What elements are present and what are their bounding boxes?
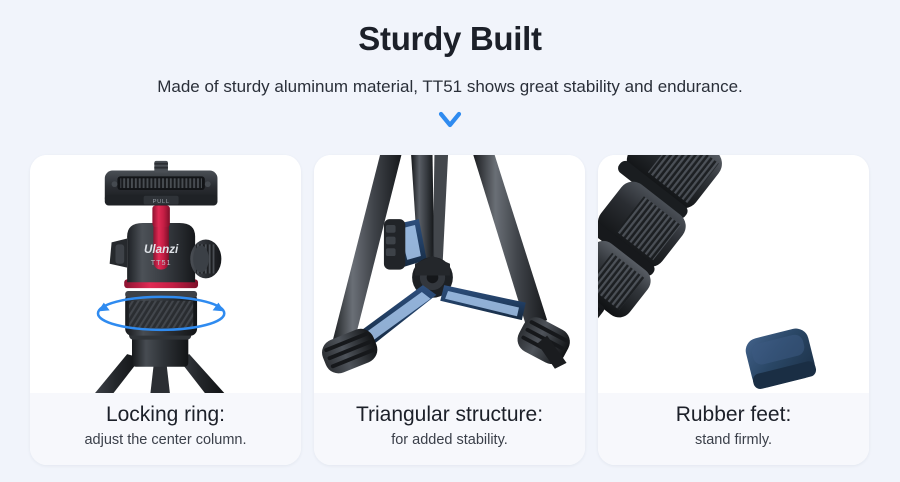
caption-subtitle: for added stability. bbox=[320, 430, 579, 451]
feature-card-locking-ring[interactable]: Ulanzi TT51 PULL bbox=[30, 155, 301, 465]
caption-title: Triangular structure: bbox=[320, 401, 579, 428]
card-caption: Triangular structure: for added stabilit… bbox=[314, 393, 585, 465]
tripod-triangular-brace-image bbox=[314, 155, 585, 393]
page-subtitle: Made of sturdy aluminum material, TT51 s… bbox=[0, 60, 900, 98]
card-caption: Rubber feet: stand firmly. bbox=[598, 393, 869, 465]
plate-pull-label: PULL bbox=[153, 199, 170, 205]
tripod-rubber-foot-image bbox=[598, 155, 869, 393]
brand-text: Ulanzi bbox=[144, 243, 179, 256]
caption-title: Locking ring: bbox=[36, 401, 295, 428]
caption-subtitle: adjust the center column. bbox=[36, 430, 295, 451]
caption-subtitle: stand firmly. bbox=[604, 430, 863, 451]
chevron-down-icon[interactable] bbox=[0, 105, 900, 135]
tripod-ball-head-image: Ulanzi TT51 PULL bbox=[30, 155, 301, 393]
feature-card-triangular-structure[interactable]: Triangular structure: for added stabilit… bbox=[314, 155, 585, 465]
page-title: Sturdy Built bbox=[0, 18, 900, 60]
card-caption: Locking ring: adjust the center column. bbox=[30, 393, 301, 465]
product-feature-page: { "header": { "title": "Sturdy Built", "… bbox=[0, 0, 900, 482]
page-header: Sturdy Built Made of sturdy aluminum mat… bbox=[0, 0, 900, 135]
caption-title: Rubber feet: bbox=[604, 401, 863, 428]
feature-card-row: Ulanzi TT51 PULL bbox=[30, 155, 870, 465]
model-text: TT51 bbox=[151, 258, 172, 267]
feature-card-rubber-feet[interactable]: Rubber feet: stand firmly. bbox=[598, 155, 869, 465]
